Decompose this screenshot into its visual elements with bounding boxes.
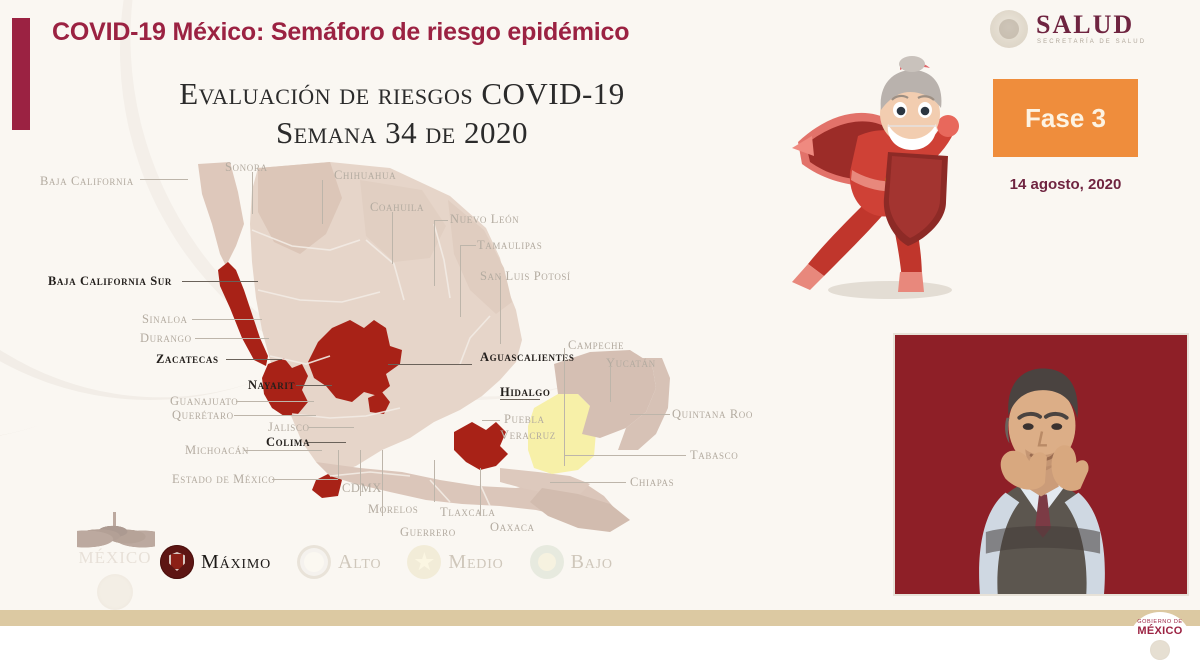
leader-line [360,450,361,496]
leader-line [192,319,262,320]
map-label-guerrero: Guerrero [400,525,456,540]
map-label-nayarit: Nayarit [248,378,295,393]
phase-badge: Fase 3 [993,79,1138,157]
gobierno-watermark-text: MÉXICO [55,548,175,568]
subtitle: Evaluación de riesgos COVID-19 Semana 34… [52,75,752,153]
map-label-durango: Durango [140,331,192,346]
map-label-colima: Colima [266,435,310,450]
bottom-accent-strip [0,610,1200,626]
mexico-risk-map: Baja CaliforniaSonoraChihuahuaCoahuilaNu… [30,150,830,540]
map-label-cdmx: CDMX [342,481,382,496]
leader-line [630,414,670,415]
leader-line [308,442,346,443]
map-label-zacatecas: Zacatecas [156,352,219,367]
map-label-sonora: Sonora [225,160,268,175]
map-label-aguascalientes: Aguascalientes [480,350,574,365]
leader-line [272,479,338,480]
accent-bar [12,18,30,130]
subtitle-line1: Evaluación de riesgos COVID-19 [179,76,625,111]
leader-line [482,420,500,421]
circle-icon [538,553,556,571]
leader-line [610,366,611,402]
map-label-sinaloa: Sinaloa [142,312,188,327]
map-label-yucat-n: Yucatán [606,356,656,371]
leader-line [550,482,626,483]
legend-label-max: Máximo [201,551,271,574]
legend-swatch-alto [297,545,331,579]
map-label-puebla: Puebla [504,412,545,427]
map-label-chiapas: Chiapas [630,475,674,490]
state-baja-california [198,162,244,266]
salud-wordmark: SALUD [1036,10,1134,40]
seal-icon [97,574,133,610]
gobierno-main-text: MÉXICO [1137,625,1182,637]
leader-line [234,415,316,416]
star-icon [414,552,434,572]
leader-line [244,450,322,451]
leader-line [296,385,332,386]
leader-line [322,180,323,224]
map-label-hidalgo: Hidalgo [500,385,550,400]
legend-swatch-medio [407,545,441,579]
map-label-tabasco: Tabasco [690,448,738,463]
salud-subtitle: SECRETARÍA DE SALUD [1037,39,1146,45]
leader-line [195,338,269,339]
legend-item-medio[interactable]: Medio [407,545,503,579]
map-label-quintana-roo: Quintana Roo [672,407,753,422]
leader-line [500,399,540,400]
map-label-san-luis-potos-: San Luis Potosí [480,269,571,284]
map-label-morelos: Morelos [368,502,418,517]
leader-line [140,179,188,180]
leader-line [182,281,258,282]
leader-line [382,450,383,516]
leader-line [480,468,481,516]
map-label-oaxaca: Oaxaca [490,520,535,535]
map-label-tamaulipas: Tamaulipas [477,238,542,253]
gobierno-de-mexico-logo: GOBIERNO DE MÉXICO [1128,612,1192,666]
map-label-guanajuato: Guanajuato [170,394,238,409]
legend-label-alto: Alto [338,551,381,574]
page-title: COVID-19 México: Semáforo de riesgo epid… [52,18,629,47]
map-label-quer-taro: Querétaro [172,408,234,423]
leader-line [564,348,565,466]
gobierno-seal-icon [1150,640,1170,660]
map-label-coahuila: Coahuila [370,200,424,215]
leader-line [460,245,476,246]
leader-line [392,212,393,264]
map-label-tlaxcala: Tlaxcala [440,505,495,520]
map-label-baja-california-sur: Baja California Sur [48,274,172,289]
risk-legend: MáximoAltoMedioBajo [160,540,680,584]
legend-item-bajo[interactable]: Bajo [530,545,613,579]
map-label-veracruz: Veracruz [500,428,556,443]
legend-label-medio: Medio [448,551,503,574]
presentation-slide: COVID-19 México: Semáforo de riesgo epid… [0,0,1200,666]
phase-date: 14 agosto, 2020 [993,176,1138,193]
legend-item-max[interactable]: Máximo [160,545,271,579]
mexican-eagle-icon [990,10,1028,48]
map-label-jalisco: Jalisco [268,420,310,435]
map-label-estado-de-m-xico: Estado de México [172,472,275,487]
leader-line [236,401,314,402]
map-label-baja-california: Baja California [40,174,134,189]
leader-line [500,276,501,344]
heroes-illustration [77,518,155,548]
flower-icon [304,552,324,572]
leader-line [338,450,339,479]
map-label-campeche: Campeche [568,338,624,353]
leader-line [226,359,282,360]
gobierno-watermark: MÉXICO [55,512,175,607]
leader-line [434,460,435,502]
legend-label-bajo: Bajo [571,551,613,574]
leader-line [308,427,354,428]
map-label-michoac-n: Michoacán [185,443,249,458]
phase-label: Fase 3 [1025,103,1106,134]
leader-line [388,364,472,365]
sign-language-interpreter-video[interactable] [893,333,1189,596]
leader-line [252,172,253,214]
map-label-nuevo-le-n: Nuevo León [450,212,519,227]
leader-line [460,245,461,317]
subtitle-line2: Semana 34 de 2020 [52,114,752,153]
map-label-chihuahua: Chihuahua [334,168,396,183]
salud-logo: SALUD SECRETARÍA DE SALUD [990,8,1150,50]
bottom-white-bar [0,626,1200,666]
legend-item-alto[interactable]: Alto [297,545,381,579]
leader-line [434,220,448,221]
leader-line [434,220,435,286]
leader-line [564,455,686,456]
legend-swatch-bajo [530,545,564,579]
